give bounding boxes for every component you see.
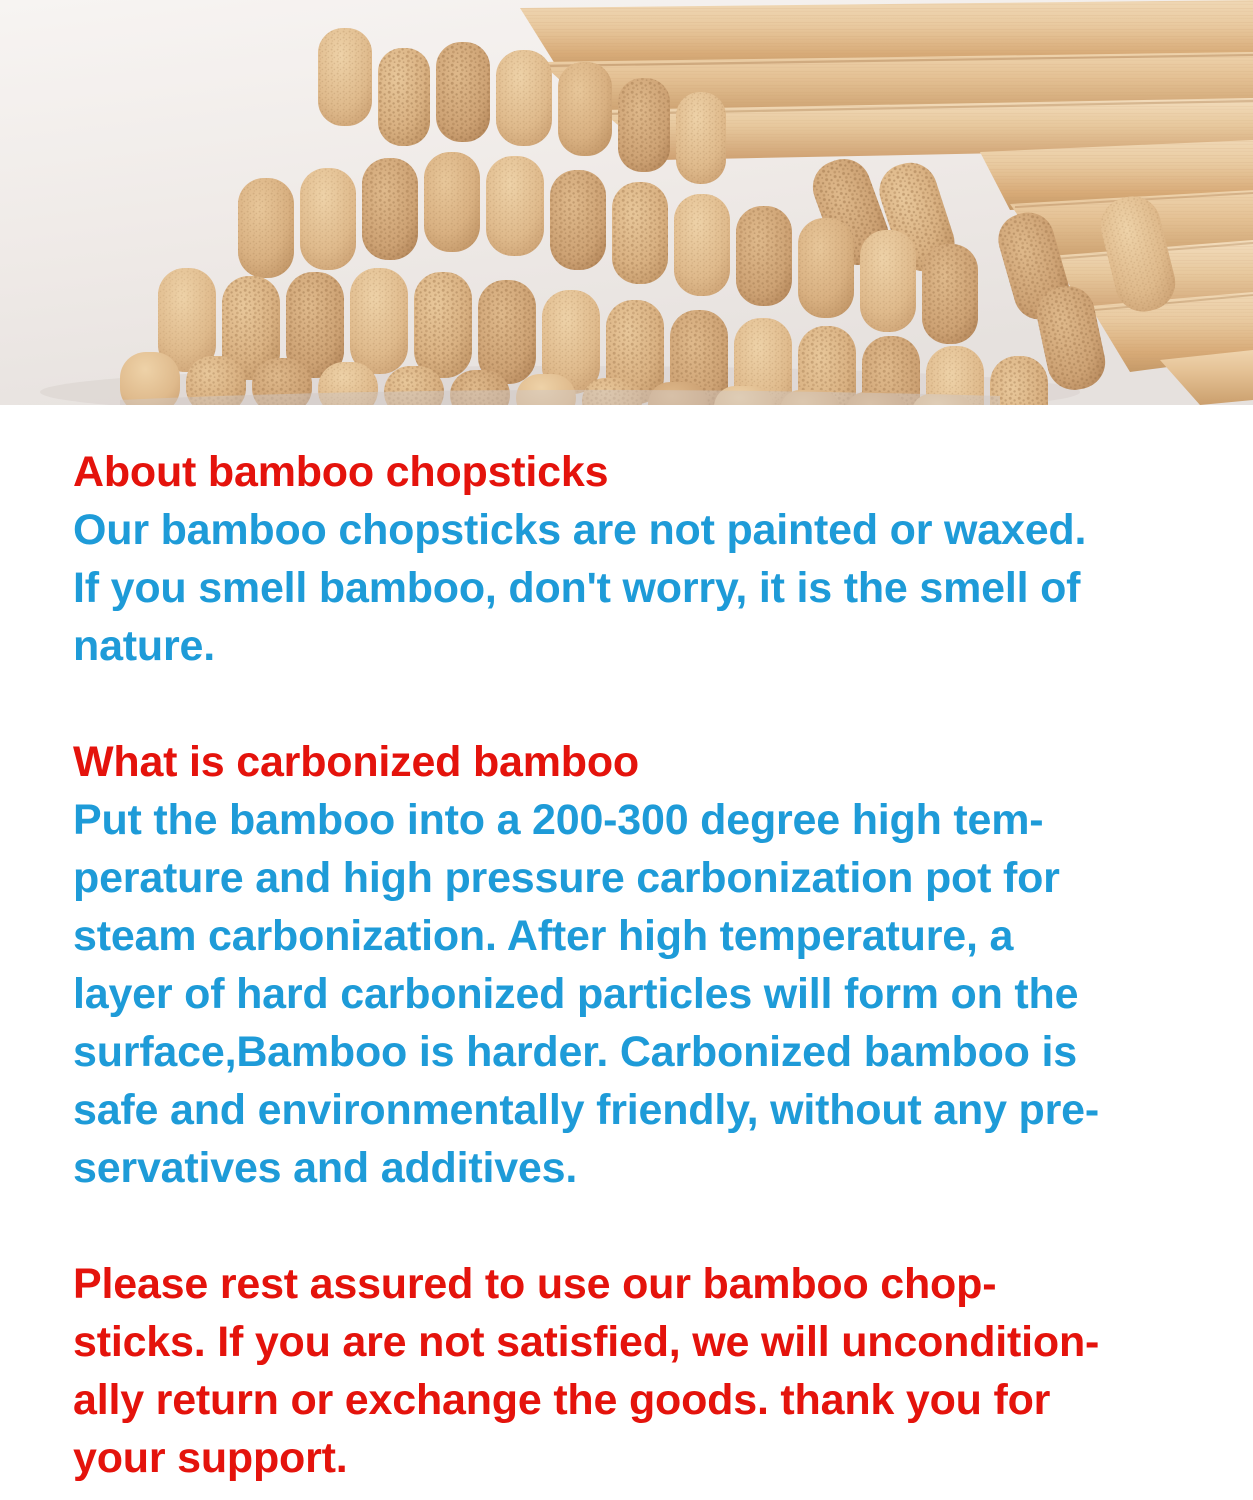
section-body-line: steam carbonization. After high temperat… xyxy=(73,907,1193,965)
section-satisfaction-guarantee: Please rest assured to use our bamboo ch… xyxy=(73,1255,1193,1487)
section-about-bamboo-chopsticks: About bamboo chopsticks Our bamboo chops… xyxy=(73,443,1193,675)
section-body-line: Our bamboo chopsticks are not painted or… xyxy=(73,501,1193,559)
section-body-line: sticks. If you are not satisfied, we wil… xyxy=(73,1313,1193,1371)
section-what-is-carbonized-bamboo: What is carbonized bamboo Put the bamboo… xyxy=(73,733,1193,1197)
section-body-line: Put the bamboo into a 200-300 degree hig… xyxy=(73,791,1193,849)
section-body-line: nature. xyxy=(73,617,1193,675)
section-body-line: Please rest assured to use our bamboo ch… xyxy=(73,1255,1193,1313)
section-body-line: servatives and additives. xyxy=(73,1139,1193,1197)
section-body-line: safe and environmentally friendly, witho… xyxy=(73,1081,1193,1139)
section-heading: What is carbonized bamboo xyxy=(73,733,1193,791)
bamboo-photo-illustration xyxy=(0,0,1253,405)
section-body-line: ally return or exchange the goods. thank… xyxy=(73,1371,1193,1429)
section-body-line: your support. xyxy=(73,1429,1193,1487)
section-body-line: If you smell bamboo, don't worry, it is … xyxy=(73,559,1193,617)
bamboo-chopsticks-bundle-photo xyxy=(0,0,1253,405)
section-body-line: surface,Bamboo is harder. Carbonized bam… xyxy=(73,1023,1193,1081)
product-description-page: About bamboo chopsticks Our bamboo chops… xyxy=(0,0,1253,1500)
section-body-line: perature and high pressure carbonization… xyxy=(73,849,1193,907)
product-description-text: About bamboo chopsticks Our bamboo chops… xyxy=(0,405,1253,1462)
section-body-line: layer of hard carbonized particles will … xyxy=(73,965,1193,1023)
section-heading: About bamboo chopsticks xyxy=(73,443,1193,501)
